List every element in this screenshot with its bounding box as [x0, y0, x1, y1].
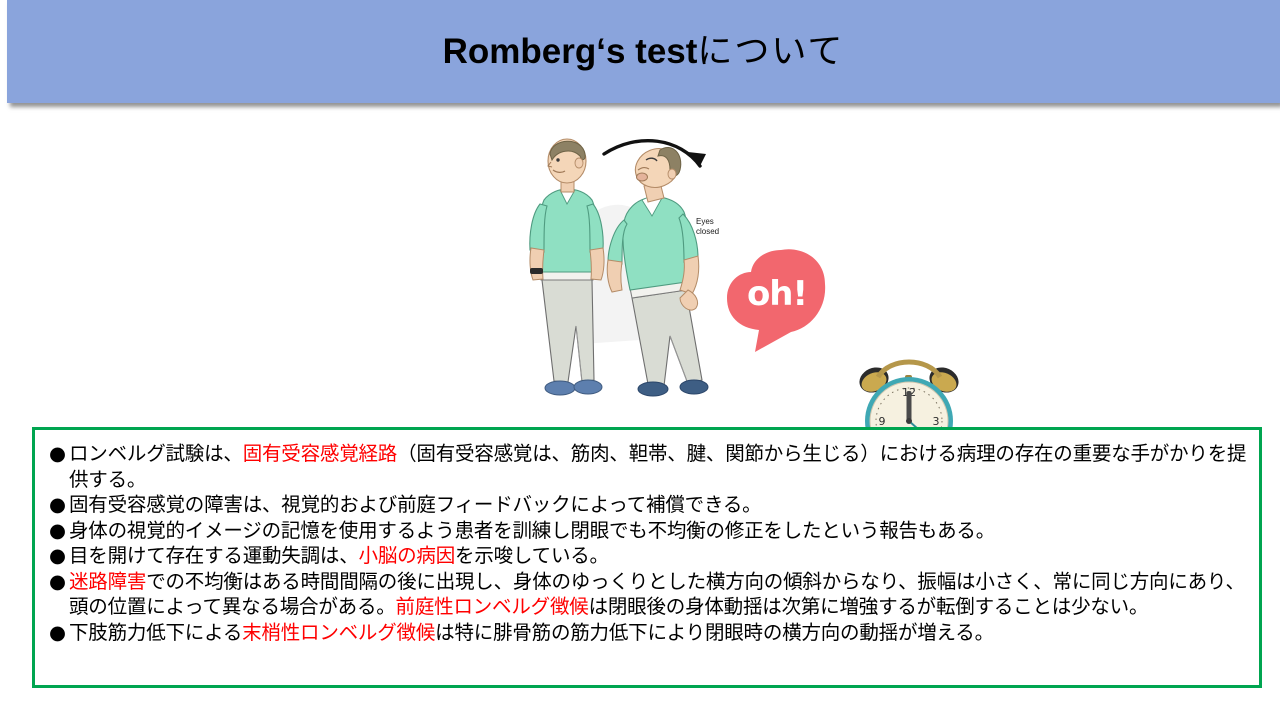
bullet-text: は閉眼後の身体動揺は次第に増強するが転倒することは少ない。 — [589, 595, 1149, 618]
bullet-marker-icon: ● — [49, 620, 69, 646]
bullet-marker-icon: ● — [49, 492, 69, 518]
bullet-item: ●目を開けて存在する運動失調は、小脳の病因を示唆している。 — [49, 543, 1251, 569]
speech-bubble: oh! — [725, 246, 829, 358]
bullet-highlight-text: 固有受容感覚経路 — [243, 442, 397, 465]
bullet-list: ●ロンベルグ試験は、固有受容感覚経路（固有受容感覚は、筋肉、靼帯、腱、関節から生… — [49, 441, 1251, 645]
bullet-item: ●ロンベルグ試験は、固有受容感覚経路（固有受容感覚は、筋肉、靼帯、腱、関節から生… — [49, 441, 1251, 492]
eyes-closed-label: Eyes closed — [696, 217, 719, 237]
bullet-marker-icon: ● — [49, 441, 69, 467]
bullet-item: ●固有受容感覚の障害は、視覚的および前庭フィードバックによって補償できる。 — [49, 492, 1251, 518]
page-title-latin: Romberg‘s test — [443, 32, 698, 71]
explanation-text-box: ●ロンベルグ試験は、固有受容感覚経路（固有受容感覚は、筋肉、靼帯、腱、関節から生… — [32, 427, 1262, 688]
bullet-item: ●迷路障害での不均衡はある時間間隔の後に出現し、身体のゆっくりとした横方向の傾斜… — [49, 569, 1251, 620]
bullet-text: は特に腓骨筋の筋力低下により閉眼時の横方向の動揺が増える。 — [435, 621, 994, 644]
bullet-text: 固有受容感覚の障害は、視覚的および前庭フィードバックによって補償できる。 — [69, 493, 761, 516]
speech-bubble-icon — [725, 246, 829, 358]
bullet-highlight-text: 前庭性ロンベルグ徴候 — [396, 595, 589, 618]
slide-title-bar: Romberg‘s testについて — [7, 0, 1280, 103]
bullet-highlight-text: 迷路障害 — [69, 570, 146, 593]
bullet-marker-icon: ● — [49, 569, 69, 595]
page-title: Romberg‘s testについて — [443, 34, 845, 70]
bullet-marker-icon: ● — [49, 543, 69, 569]
figure-area: Eyes closed oh! — [0, 110, 1280, 415]
bullet-text: 身体の視覚的イメージの記憶を使用するよう患者を訓練し閉眼でも不均衡の修正をしたと… — [69, 519, 995, 542]
bullet-text: ロンベルグ試験は、 — [69, 442, 243, 465]
bullet-text: 下肢筋力低下による — [69, 621, 242, 644]
page-title-japanese: について — [697, 32, 844, 72]
bullet-item: ●身体の視覚的イメージの記憶を使用するよう患者を訓練し閉眼でも不均衡の修正をした… — [49, 518, 1251, 544]
bullet-marker-icon: ● — [49, 518, 69, 544]
bullet-highlight-text: 末梢性ロンベルグ徴候 — [242, 621, 435, 644]
bullet-highlight-text: 小脳の病因 — [359, 544, 456, 567]
bullet-text: を示唆している。 — [455, 544, 609, 567]
bullet-text: 目を開けて存在する運動失調は、 — [69, 544, 359, 567]
bullet-item: ●下肢筋力低下による末梢性ロンベルグ徴候は特に腓骨筋の筋力低下により閉眼時の横方… — [49, 620, 1251, 646]
